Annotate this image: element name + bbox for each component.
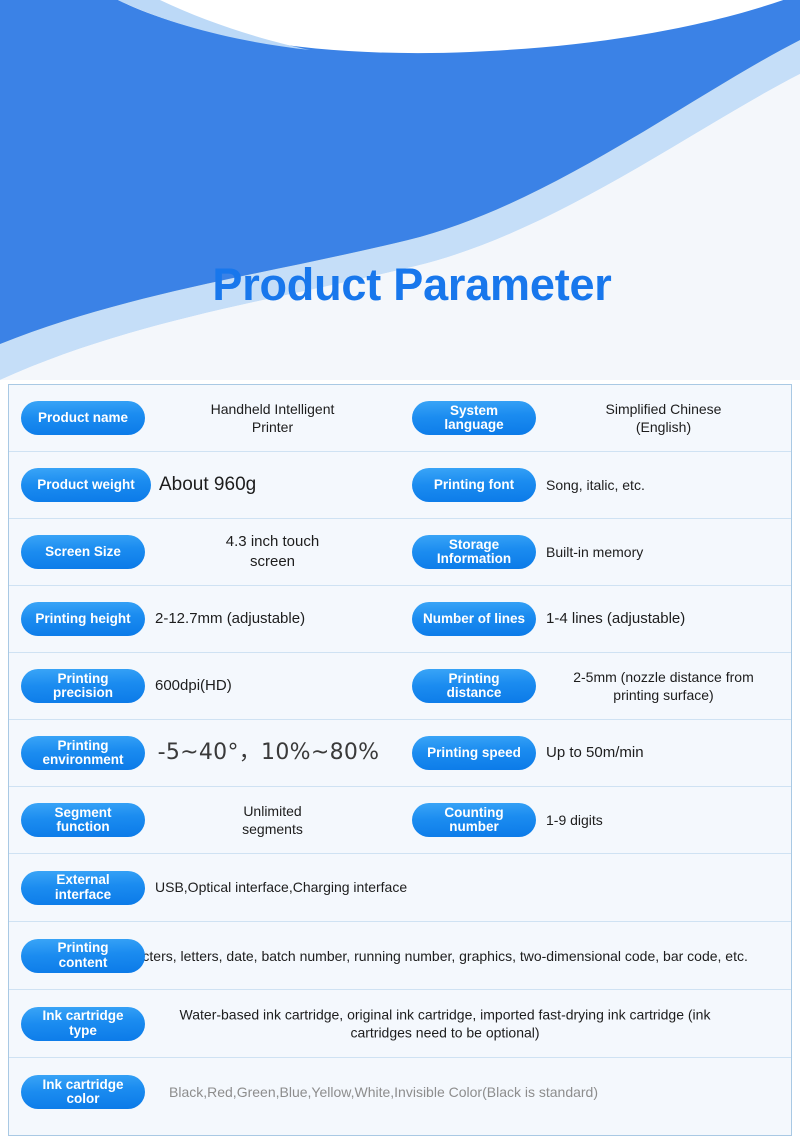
spec-value: Built-in memory — [536, 543, 791, 561]
spec-value: Song, italic, etc. — [536, 476, 791, 494]
spec-label-badge: External interface — [21, 871, 145, 905]
spec-label-badge: Storage Information — [412, 535, 536, 569]
spec-value: 1-4 lines (adjustable) — [536, 609, 791, 629]
spec-label-badge: Screen Size — [21, 535, 145, 569]
spec-cell-printing-distance: Printing distance 2-5mm (nozzle distance… — [400, 653, 791, 719]
spec-value: Handheld Intelligent Printer — [145, 400, 400, 437]
table-row: Ink cartridge color Black,Red,Green,Blue… — [9, 1058, 791, 1126]
spec-label-badge: Ink cartridge type — [21, 1007, 145, 1041]
page-title: Product Parameter — [0, 262, 800, 307]
spec-value: 2-5mm (nozzle distance from printing sur… — [536, 668, 791, 705]
spec-value: About 960g — [151, 472, 400, 497]
spec-cell-system-language: System language Simplified Chinese (Engl… — [400, 385, 791, 451]
spec-label-badge: Product name — [21, 401, 145, 435]
spec-label-badge: Segment function — [21, 803, 145, 837]
spec-value: 2-12.7mm (adjustable) — [145, 609, 400, 629]
table-row: Printing height 2-12.7mm (adjustable) Nu… — [9, 586, 791, 653]
spec-label-badge: Printing height — [21, 602, 145, 636]
spec-cell-storage-information: Storage Information Built-in memory — [400, 519, 791, 585]
spec-cell-segment-function: Segment function Unlimited segments — [9, 787, 400, 853]
spec-label-badge: Product weight — [21, 468, 151, 502]
spec-label-badge: Printing speed — [412, 736, 536, 770]
table-row: Product name Handheld Intelligent Printe… — [9, 385, 791, 452]
spec-cell-printing-height: Printing height 2-12.7mm (adjustable) — [9, 586, 400, 652]
spec-cell-printing-font: Printing font Song, italic, etc. — [400, 452, 791, 518]
spec-value: USB,Optical interface,Charging interface — [145, 878, 791, 896]
spec-value: Unlimited segments — [145, 802, 400, 839]
spec-value: 600dpi(HD) — [145, 676, 400, 696]
spec-label-badge: Counting number — [412, 803, 536, 837]
spec-label-badge: System language — [412, 401, 536, 435]
spec-value: 4.3 inch touch screen — [145, 532, 400, 572]
spec-cell-product-name: Product name Handheld Intelligent Printe… — [9, 385, 400, 451]
table-row: Screen Size 4.3 inch touch screen Storag… — [9, 519, 791, 586]
table-row: Product weight About 960g Printing font … — [9, 452, 791, 519]
spec-cell-printing-content: Printing content Chinese characters, let… — [9, 922, 791, 989]
spec-label-badge: Printing content — [21, 939, 145, 973]
table-row: Printing precision 600dpi(HD) Printing d… — [9, 653, 791, 720]
table-row: Segment function Unlimited segments Coun… — [9, 787, 791, 854]
spec-value: Simplified Chinese (English) — [536, 400, 791, 437]
table-row: Printing content Chinese characters, let… — [9, 922, 791, 990]
spec-cell-ink-cartridge-color: Ink cartridge color Black,Red,Green,Blue… — [9, 1058, 791, 1126]
spec-label-badge: Printing distance — [412, 669, 536, 703]
spec-cell-printing-precision: Printing precision 600dpi(HD) — [9, 653, 400, 719]
spec-label-badge: Printing environment — [21, 736, 145, 770]
spec-cell-ink-cartridge-type: Ink cartridge type Water-based ink cartr… — [9, 990, 791, 1057]
spec-cell-product-weight: Product weight About 960g — [9, 452, 400, 518]
spec-cell-printing-environment: Printing environment -5~40°，10%~80% — [9, 720, 400, 786]
spec-value: Up to 50m/min — [536, 743, 791, 763]
spec-cell-external-interface: External interface USB,Optical interface… — [9, 854, 791, 921]
table-row: External interface USB,Optical interface… — [9, 854, 791, 922]
spec-label-badge: Printing font — [412, 468, 536, 502]
spec-cell-counting-number: Counting number 1-9 digits — [400, 787, 791, 853]
spec-value: 1-9 digits — [536, 811, 791, 829]
spec-value: -5~40°，10%~80% — [145, 738, 400, 767]
spec-label-badge: Ink cartridge color — [21, 1075, 145, 1109]
spec-label-badge: Number of lines — [412, 602, 536, 636]
spec-cell-printing-speed: Printing speed Up to 50m/min — [400, 720, 791, 786]
table-row: Ink cartridge type Water-based ink cartr… — [9, 990, 791, 1058]
spec-label-badge: Printing precision — [21, 669, 145, 703]
spec-cell-number-of-lines: Number of lines 1-4 lines (adjustable) — [400, 586, 791, 652]
table-row: Printing environment -5~40°，10%~80% Prin… — [9, 720, 791, 787]
product-parameter-table: Product name Handheld Intelligent Printe… — [8, 384, 792, 1136]
header-banner — [0, 0, 800, 380]
spec-cell-screen-size: Screen Size 4.3 inch touch screen — [9, 519, 400, 585]
spec-value: Black,Red,Green,Blue,Yellow,White,Invisi… — [145, 1083, 791, 1101]
